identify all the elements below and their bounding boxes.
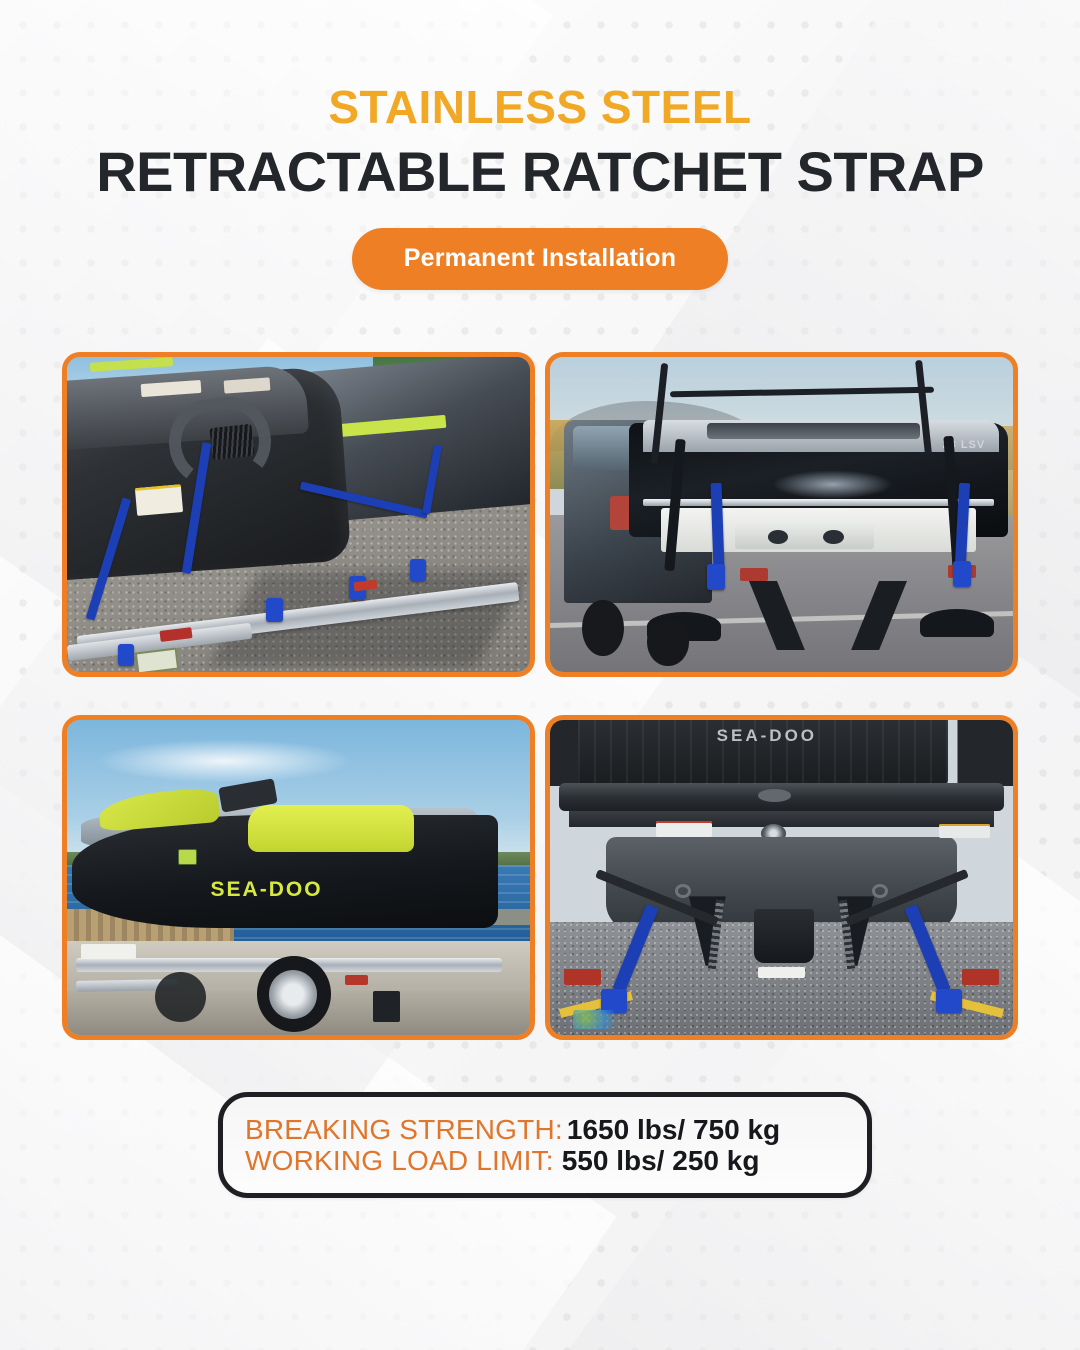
specifications-box: BREAKING STRENGTH: 1650 lbs/ 750 kg WORK… [218, 1092, 872, 1198]
strap-hook [118, 644, 134, 666]
spec-label-breaking-strength: BREAKING STRENGTH: [245, 1114, 563, 1145]
spec-row-working-load-limit: WORKING LOAD LIMIT: 550 lbs/ 250 kg [245, 1145, 845, 1176]
strap-hook [936, 989, 962, 1013]
photo-seadoo-lake: SEA-DOO [62, 715, 535, 1040]
strap-hook [707, 564, 725, 590]
header: STAINLESS STEEL RETRACTABLE RATCHET STRA… [0, 0, 1080, 290]
badge-container: Permanent Installation [0, 228, 1080, 290]
photo-gallery: 23 LSV [62, 352, 1018, 1040]
photo-jetskis-trailer [62, 352, 535, 677]
photo-boat-towing: 23 LSV [545, 352, 1018, 677]
title-line-1: STAINLESS STEEL [0, 84, 1080, 130]
spec-value-working-load-limit: 550 lbs/ 250 kg [562, 1145, 760, 1176]
page-title: RETRACTABLE RATCHET STRAP [0, 144, 1080, 200]
photo-trailer-rear: SEA-DOO [545, 715, 1018, 1040]
spec-label-working-load-limit: WORKING LOAD LIMIT: [245, 1145, 554, 1176]
strap-hook [953, 561, 971, 587]
strap-hook [410, 559, 426, 581]
seadoo-logo: SEA-DOO [211, 878, 323, 902]
spec-row-breaking-strength: BREAKING STRENGTH: 1650 lbs/ 750 kg [245, 1114, 845, 1145]
permanent-installation-badge: Permanent Installation [352, 228, 729, 290]
product-infographic: STAINLESS STEEL RETRACTABLE RATCHET STRA… [0, 0, 1080, 1350]
seadoo-cover-logo: SEA-DOO [717, 726, 817, 746]
spec-value-breaking-strength: 1650 lbs/ 750 kg [567, 1114, 780, 1145]
strap-hook [266, 598, 283, 622]
